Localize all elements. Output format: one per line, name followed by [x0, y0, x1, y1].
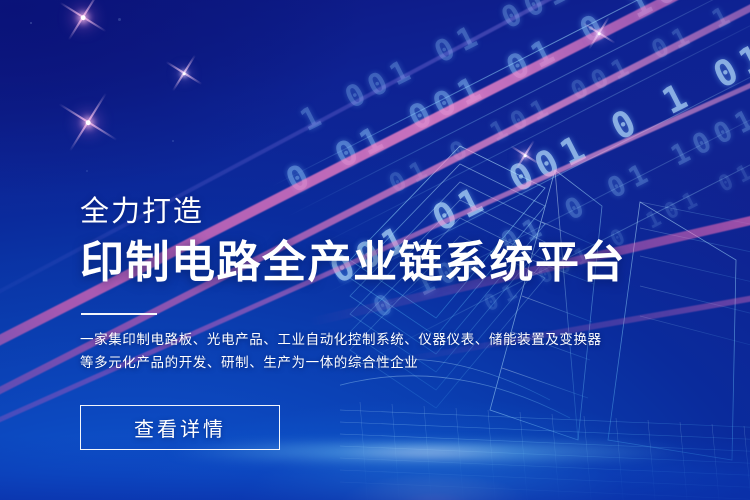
hero-description-line-1: 一家集印制电路板、光电产品、工业自动化控制系统、仪器仪表、储能装置及变换器	[80, 328, 600, 351]
hero-content: 全力打造 印制电路全产业链系统平台 一家集印制电路板、光电产品、工业自动化控制系…	[80, 0, 680, 500]
divider-rule	[81, 313, 157, 315]
hero-description: 一家集印制电路板、光电产品、工业自动化控制系统、仪器仪表、储能装置及变换器 等多…	[80, 328, 600, 374]
dust-speck	[30, 22, 32, 24]
view-details-button[interactable]: 查看详情	[80, 405, 280, 450]
hero-description-line-2: 等多元化产品的开发、研制、生产为一体的综合性企业	[80, 351, 600, 374]
hero-banner: 1 001 01 001 0101 1 01 0 0 01 001 01 0 1…	[0, 0, 750, 500]
hero-headline: 印制电路全产业链系统平台	[80, 240, 626, 286]
hero-eyebrow: 全力打造	[80, 198, 204, 227]
